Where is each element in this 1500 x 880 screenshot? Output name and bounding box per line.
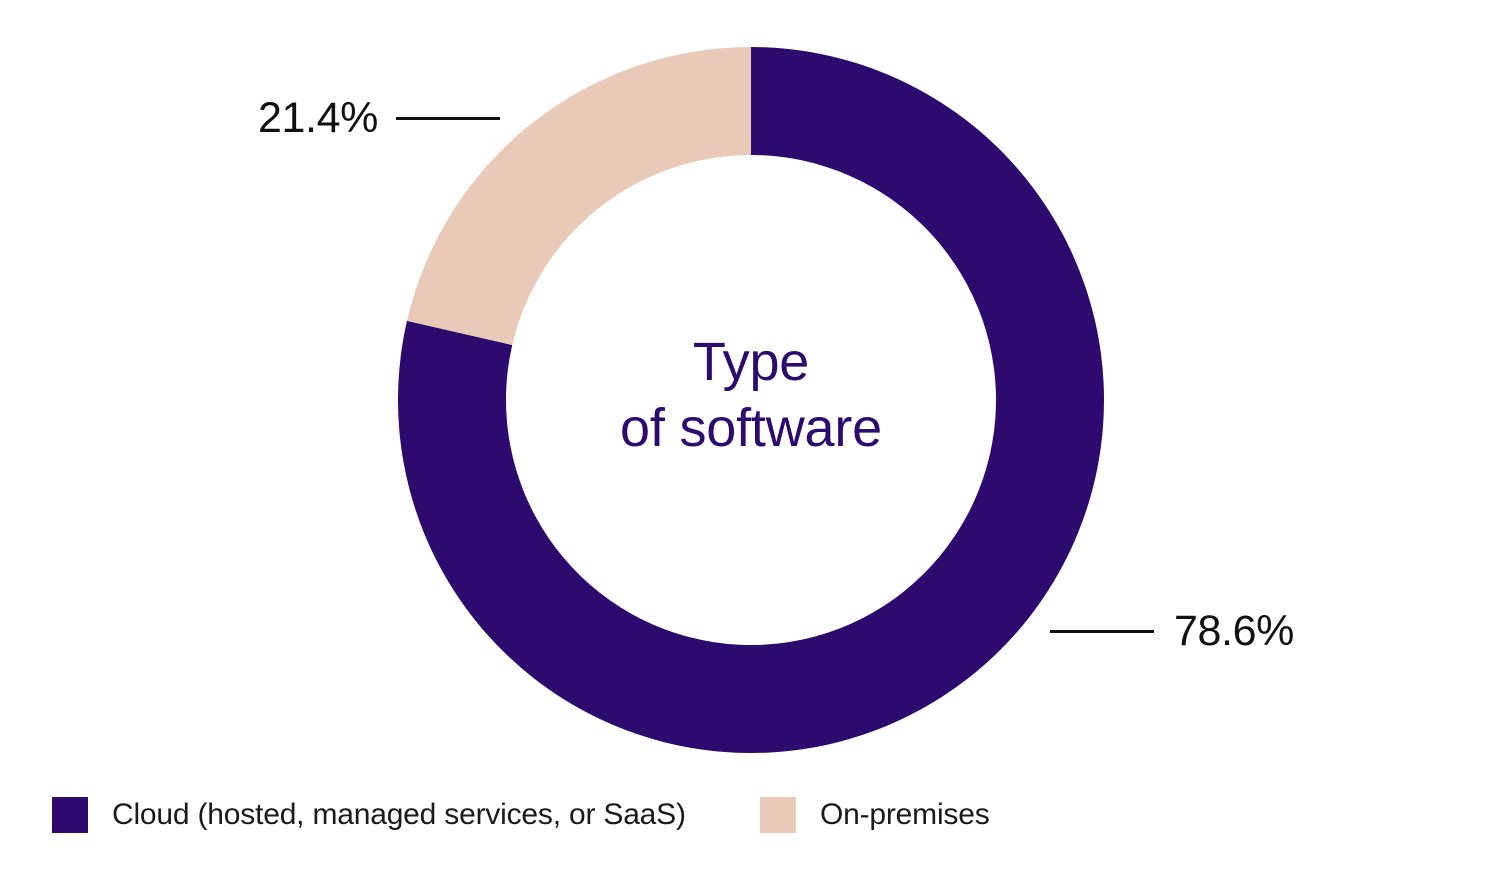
callout-cloud-value: 78.6% bbox=[1174, 607, 1294, 656]
callout-cloud-leader-line bbox=[1050, 630, 1154, 633]
legend-item-cloud[interactable]: Cloud (hosted, managed services, or SaaS… bbox=[52, 797, 760, 833]
legend-swatch-cloud bbox=[52, 797, 88, 833]
callout-on-premises-value: 21.4% bbox=[258, 94, 378, 143]
callout-cloud: 78.6% bbox=[1050, 607, 1294, 656]
donut-svg bbox=[398, 47, 1104, 753]
donut-slice-on-premises[interactable] bbox=[407, 47, 751, 345]
legend-label-on-premises: On-premises bbox=[820, 798, 990, 832]
legend-label-cloud: Cloud (hosted, managed services, or SaaS… bbox=[112, 798, 686, 832]
callout-on-premises: 21.4% bbox=[258, 94, 500, 143]
chart-legend: Cloud (hosted, managed services, or SaaS… bbox=[52, 797, 990, 833]
legend-swatch-on-premises bbox=[760, 797, 796, 833]
legend-item-on-premises[interactable]: On-premises bbox=[760, 797, 990, 833]
donut-ring bbox=[398, 47, 1104, 753]
callout-on-premises-leader-line bbox=[396, 117, 500, 120]
donut-chart: Type of software 21.4% 78.6% Cloud (host… bbox=[0, 0, 1500, 880]
